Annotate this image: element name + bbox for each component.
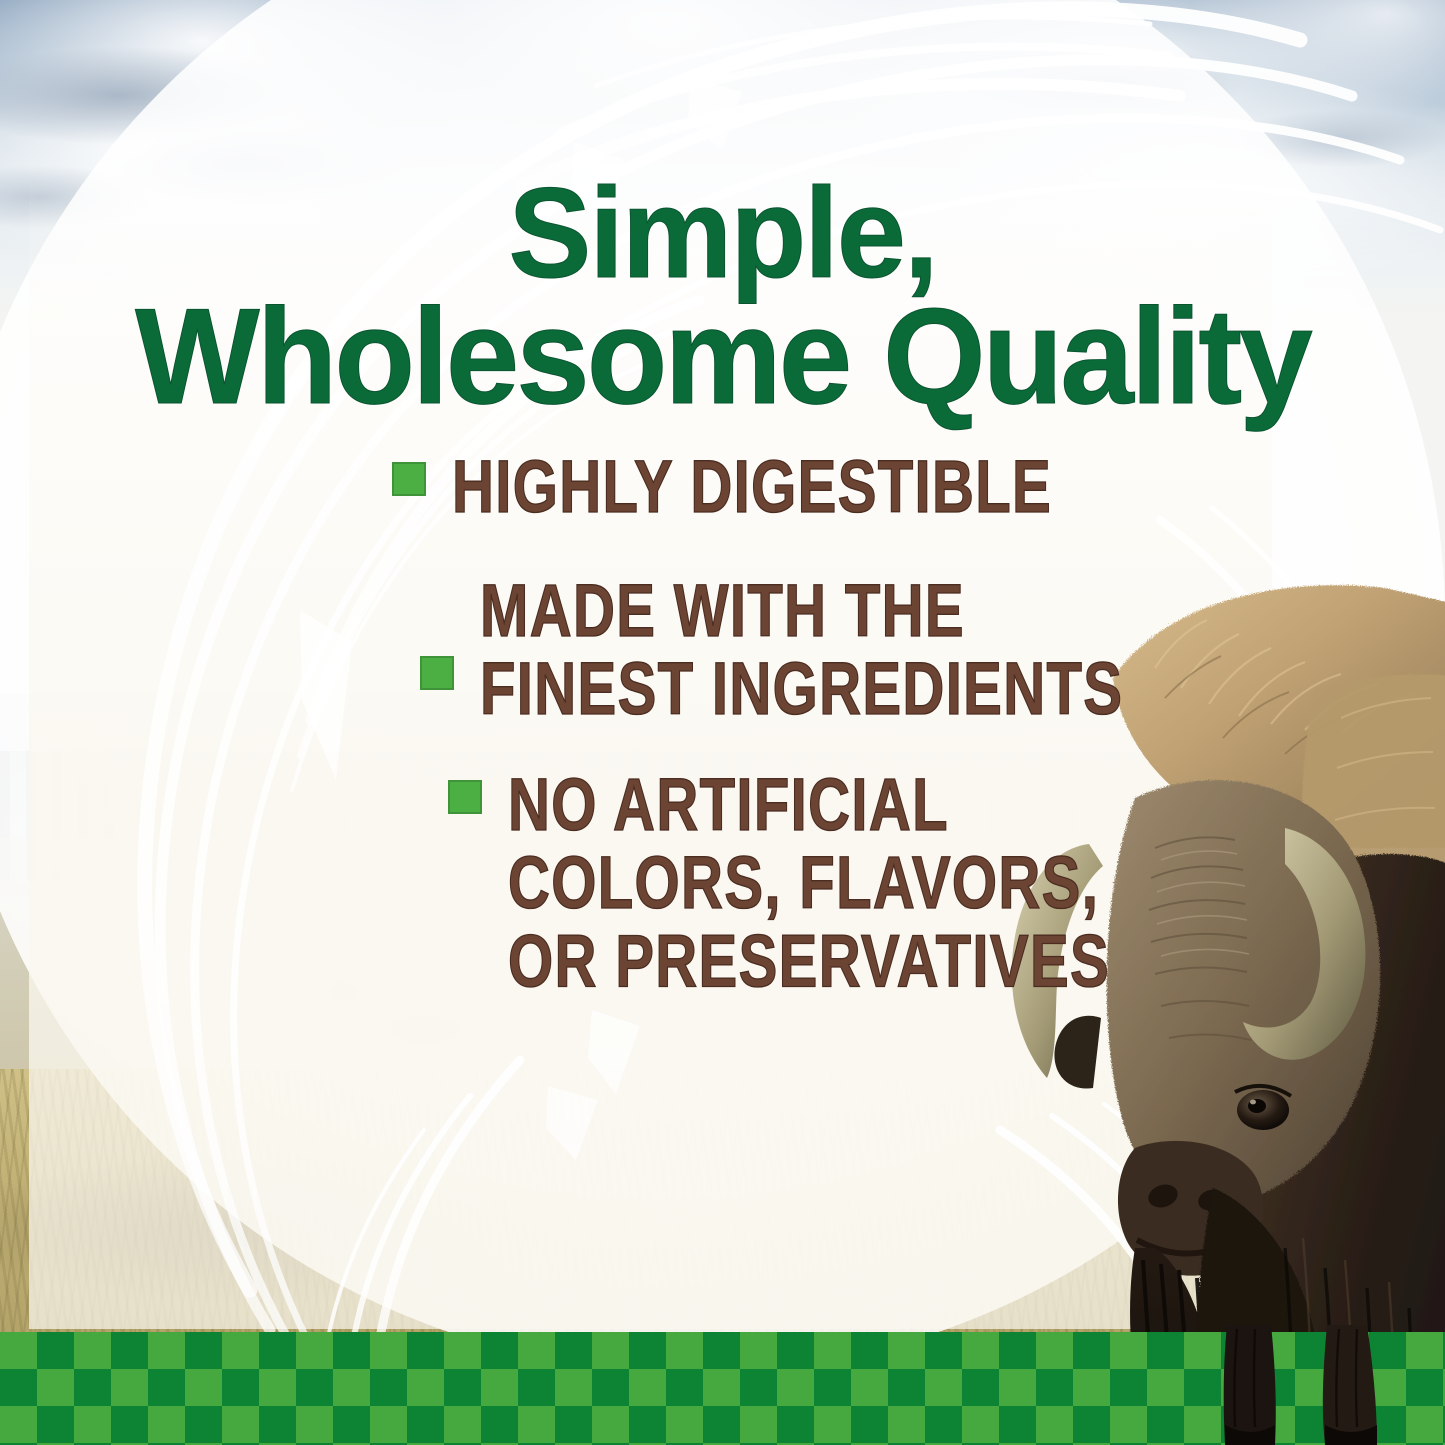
checkerboard-footer-band <box>0 1332 1445 1445</box>
list-item: NO ARTIFICIAL COLORS, FLAVORS, OR PRESER… <box>448 766 1012 976</box>
feature-text-highly-digestible: HIGHLY DIGESTIBLE <box>452 448 1052 526</box>
title-line-2: Wholesome Quality <box>22 293 1424 419</box>
page-title: Simple, Wholesome Quality <box>22 174 1424 420</box>
bison-ear <box>1054 1016 1101 1089</box>
bullet-square-icon <box>392 462 426 496</box>
product-feature-poster: Simple, Wholesome Quality HIGHLY DIGESTI… <box>0 0 1445 1445</box>
list-item: HIGHLY DIGESTIBLE <box>392 448 1012 518</box>
feature-list: HIGHLY DIGESTIBLE MADE WITH THE FINEST I… <box>392 448 1012 976</box>
feature-text-no-artificial: NO ARTIFICIAL COLORS, FLAVORS, OR PRESER… <box>508 766 1110 1001</box>
feature-text-finest-ingredients: MADE WITH THE FINEST INGREDIENTS <box>480 572 1123 729</box>
list-item: MADE WITH THE FINEST INGREDIENTS <box>420 572 1012 712</box>
bullet-square-icon <box>420 656 454 690</box>
bullet-square-icon <box>448 780 482 814</box>
